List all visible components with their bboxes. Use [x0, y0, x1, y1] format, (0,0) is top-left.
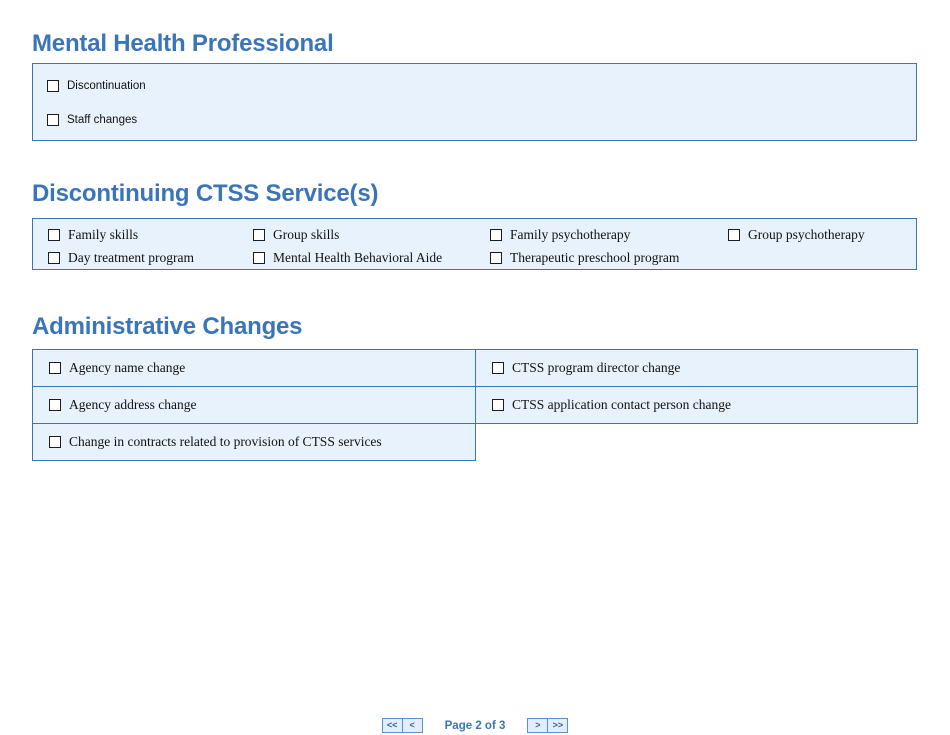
- checkbox-label-family-skills: Family skills: [68, 227, 138, 243]
- panel-mental-health-professional: Discontinuation Staff changes: [32, 63, 917, 141]
- checkbox-row-staff-changes[interactable]: Staff changes: [47, 114, 137, 126]
- checkbox-row-mental-health-behavioral-aide[interactable]: Mental Health Behavioral Aide: [253, 250, 442, 266]
- checkbox-row-family-skills[interactable]: Family skills: [48, 227, 138, 243]
- checkbox-label-group-psychotherapy: Group psychotherapy: [748, 227, 865, 243]
- cell-agency-address-change[interactable]: Agency address change: [33, 387, 476, 424]
- checkbox-label-family-psychotherapy: Family psychotherapy: [510, 227, 630, 243]
- checkbox-staff-changes[interactable]: [47, 114, 59, 126]
- panel-discontinuing-ctss-services: Family skills Group skills Family psycho…: [32, 218, 917, 270]
- checkbox-ctss-application-contact-person-change[interactable]: [492, 399, 504, 411]
- last-page-button[interactable]: >>: [547, 718, 568, 733]
- checkbox-label-agency-address-change: Agency address change: [69, 397, 196, 413]
- checkbox-row-therapeutic-preschool-program[interactable]: Therapeutic preschool program: [490, 250, 679, 266]
- pagination-prev-group: << <: [382, 718, 423, 733]
- checkbox-group-skills[interactable]: [253, 229, 265, 241]
- checkbox-family-psychotherapy[interactable]: [490, 229, 502, 241]
- checkbox-mental-health-behavioral-aide[interactable]: [253, 252, 265, 264]
- first-page-button[interactable]: <<: [382, 718, 403, 733]
- checkbox-group-psychotherapy[interactable]: [728, 229, 740, 241]
- section-heading-discontinuing-ctss-services: Discontinuing CTSS Service(s): [32, 180, 378, 208]
- cell-ctss-application-contact-person-change[interactable]: CTSS application contact person change: [476, 387, 918, 424]
- checkbox-agency-address-change[interactable]: [49, 399, 61, 411]
- checkbox-label-group-skills: Group skills: [273, 227, 339, 243]
- checkbox-label-discontinuation: Discontinuation: [67, 80, 146, 92]
- checkbox-label-therapeutic-preschool-program: Therapeutic preschool program: [510, 250, 679, 266]
- checkbox-row-day-treatment-program[interactable]: Day treatment program: [48, 250, 194, 266]
- table-row: Change in contracts related to provision…: [33, 424, 918, 461]
- checkbox-change-in-contracts[interactable]: [49, 436, 61, 448]
- checkbox-row-discontinuation[interactable]: Discontinuation: [47, 80, 146, 92]
- previous-page-button[interactable]: <: [402, 718, 423, 733]
- checkbox-label-mental-health-behavioral-aide: Mental Health Behavioral Aide: [273, 250, 442, 266]
- checkbox-day-treatment-program[interactable]: [48, 252, 60, 264]
- cell-ctss-program-director-change[interactable]: CTSS program director change: [476, 350, 918, 387]
- checkbox-family-skills[interactable]: [48, 229, 60, 241]
- checkbox-agency-name-change[interactable]: [49, 362, 61, 374]
- checkbox-therapeutic-preschool-program[interactable]: [490, 252, 502, 264]
- pagination: << < Page 2 of 3 > >>: [0, 718, 950, 733]
- checkbox-label-ctss-application-contact-person-change: CTSS application contact person change: [512, 397, 731, 413]
- cell-change-in-contracts[interactable]: Change in contracts related to provision…: [33, 424, 476, 461]
- checkbox-row-family-psychotherapy[interactable]: Family psychotherapy: [490, 227, 630, 243]
- page-status: Page 2 of 3: [445, 720, 506, 732]
- cell-empty: [476, 424, 918, 461]
- next-page-button[interactable]: >: [527, 718, 548, 733]
- table-row: Agency address change CTSS application c…: [33, 387, 918, 424]
- checkbox-label-ctss-program-director-change: CTSS program director change: [512, 360, 680, 376]
- checkbox-label-day-treatment-program: Day treatment program: [68, 250, 194, 266]
- section-heading-administrative-changes: Administrative Changes: [32, 313, 302, 341]
- checkbox-label-agency-name-change: Agency name change: [69, 360, 185, 376]
- section-heading-mental-health-professional: Mental Health Professional: [32, 30, 334, 58]
- table-administrative-changes: Agency name change CTSS program director…: [32, 349, 918, 461]
- checkbox-row-group-psychotherapy[interactable]: Group psychotherapy: [728, 227, 865, 243]
- checkbox-label-change-in-contracts: Change in contracts related to provision…: [69, 434, 382, 450]
- pagination-next-group: > >>: [527, 718, 568, 733]
- cell-agency-name-change[interactable]: Agency name change: [33, 350, 476, 387]
- form-page: Mental Health Professional Discontinuati…: [0, 0, 950, 735]
- checkbox-ctss-program-director-change[interactable]: [492, 362, 504, 374]
- table-row: Agency name change CTSS program director…: [33, 350, 918, 387]
- checkbox-discontinuation[interactable]: [47, 80, 59, 92]
- checkbox-row-group-skills[interactable]: Group skills: [253, 227, 339, 243]
- checkbox-label-staff-changes: Staff changes: [67, 114, 137, 126]
